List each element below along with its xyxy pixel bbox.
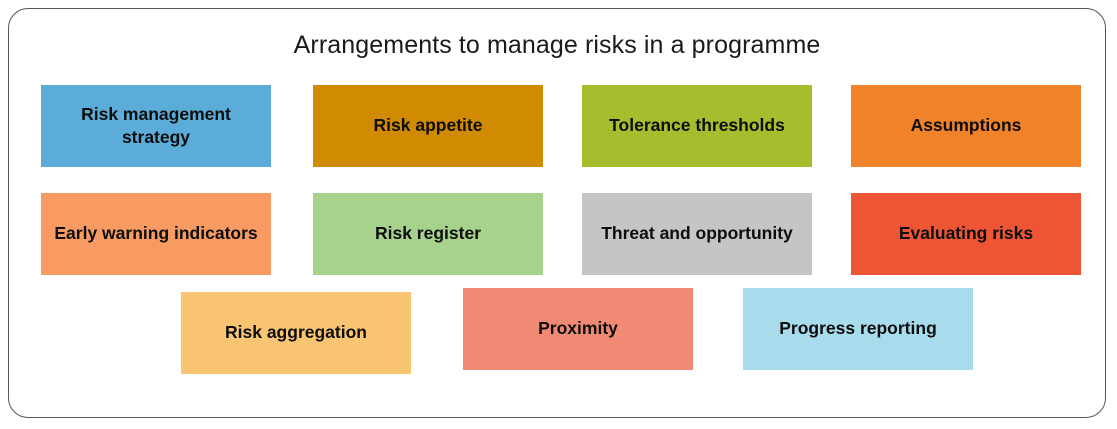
concept-box-risk-appetite[interactable]: Risk appetite — [313, 85, 543, 167]
concept-box-label: Evaluating risks — [899, 222, 1033, 245]
concept-box-label: Assumptions — [911, 114, 1022, 137]
concept-box-early-warning-indicators[interactable]: Early warning indicators — [41, 193, 271, 275]
concept-box-assumptions[interactable]: Assumptions — [851, 85, 1081, 167]
concept-box-label: Early warning indicators — [54, 222, 257, 245]
concept-box-threat-and-opportunity[interactable]: Threat and opportunity — [582, 193, 812, 275]
concept-box-evaluating-risks[interactable]: Evaluating risks — [851, 193, 1081, 275]
concept-box-label: Risk aggregation — [225, 321, 367, 344]
concept-box-label: Progress reporting — [779, 317, 937, 340]
concept-box-label: Threat and opportunity — [601, 222, 793, 245]
concept-box-risk-management-strategy[interactable]: Risk management strategy — [41, 85, 271, 167]
concept-box-label: Tolerance thresholds — [609, 114, 785, 137]
concept-box-label: Risk register — [375, 222, 481, 245]
concept-box-label: Risk management strategy — [47, 103, 265, 149]
concept-box-risk-aggregation[interactable]: Risk aggregation — [181, 292, 411, 374]
concept-box-tolerance-thresholds[interactable]: Tolerance thresholds — [582, 85, 812, 167]
concept-box-label: Risk appetite — [374, 114, 483, 137]
concept-box-label: Proximity — [538, 317, 618, 340]
page-title: Arrangements to manage risks in a progra… — [9, 31, 1105, 60]
concept-box-proximity[interactable]: Proximity — [463, 288, 693, 370]
concept-box-risk-register[interactable]: Risk register — [313, 193, 543, 275]
concept-box-progress-reporting[interactable]: Progress reporting — [743, 288, 973, 370]
diagram-frame: Arrangements to manage risks in a progra… — [8, 8, 1106, 418]
